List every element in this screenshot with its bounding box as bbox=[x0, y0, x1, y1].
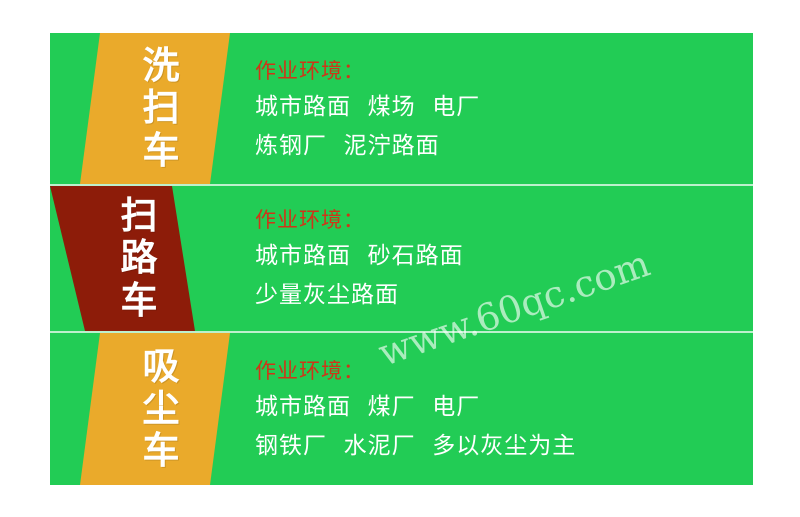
tab-xichenche[interactable]: 吸 尘 车 bbox=[80, 333, 230, 485]
row-divider-2 bbox=[50, 331, 753, 333]
tab-char: 吸 bbox=[143, 348, 180, 386]
tab-char: 扫 bbox=[143, 89, 180, 127]
tab-char: 车 bbox=[121, 282, 158, 320]
tab-saoluche-label: 扫 路 车 bbox=[121, 197, 158, 319]
environment-line: 城市路面 砂石路面 bbox=[255, 245, 753, 268]
tab-saoluche[interactable]: 扫 路 车 bbox=[50, 186, 200, 331]
tab-char: 车 bbox=[143, 132, 180, 170]
content-xishaoche: 作业环境： 城市路面 煤场 电厂 炼钢厂 泥泞路面 bbox=[255, 33, 753, 184]
row-xichenche: 吸 尘 车 作业环境： 城市路面 煤厂 电厂 钢铁厂 水泥厂 多以灰尘为主 bbox=[50, 333, 753, 485]
tab-xishaoche[interactable]: 洗 扫 车 bbox=[80, 33, 230, 184]
environment-line: 城市路面 煤场 电厂 bbox=[255, 96, 753, 119]
environment-line: 炼钢厂 泥泞路面 bbox=[255, 135, 753, 158]
tab-char: 车 bbox=[143, 432, 180, 470]
green-panel: 洗 扫 车 作业环境： 城市路面 煤场 电厂 炼钢厂 泥泞路面 扫 路 车 bbox=[50, 33, 753, 485]
environment-heading: 作业环境： bbox=[255, 210, 753, 231]
environment-line: 钢铁厂 水泥厂 多以灰尘为主 bbox=[255, 435, 753, 458]
row-divider-1 bbox=[50, 184, 753, 186]
environment-heading: 作业环境： bbox=[255, 361, 753, 382]
environment-line: 城市路面 煤厂 电厂 bbox=[255, 396, 753, 419]
row-xishaoche: 洗 扫 车 作业环境： 城市路面 煤场 电厂 炼钢厂 泥泞路面 bbox=[50, 33, 753, 184]
tab-char: 扫 bbox=[121, 197, 158, 235]
tab-xichenche-label: 吸 尘 车 bbox=[143, 348, 180, 470]
row-saoluche: 扫 路 车 作业环境： 城市路面 砂石路面 少量灰尘路面 bbox=[50, 186, 753, 331]
environment-heading: 作业环境： bbox=[255, 61, 753, 82]
tab-xishaoche-label: 洗 扫 车 bbox=[143, 47, 180, 169]
content-xichenche: 作业环境： 城市路面 煤厂 电厂 钢铁厂 水泥厂 多以灰尘为主 bbox=[255, 333, 753, 485]
tab-char: 尘 bbox=[143, 390, 180, 428]
environment-line: 少量灰尘路面 bbox=[255, 284, 753, 307]
tab-char: 路 bbox=[121, 239, 158, 277]
tab-char: 洗 bbox=[143, 47, 180, 85]
content-saoluche: 作业环境： 城市路面 砂石路面 少量灰尘路面 bbox=[255, 186, 753, 331]
infographic-canvas: 洗 扫 车 作业环境： 城市路面 煤场 电厂 炼钢厂 泥泞路面 扫 路 车 bbox=[0, 0, 800, 517]
